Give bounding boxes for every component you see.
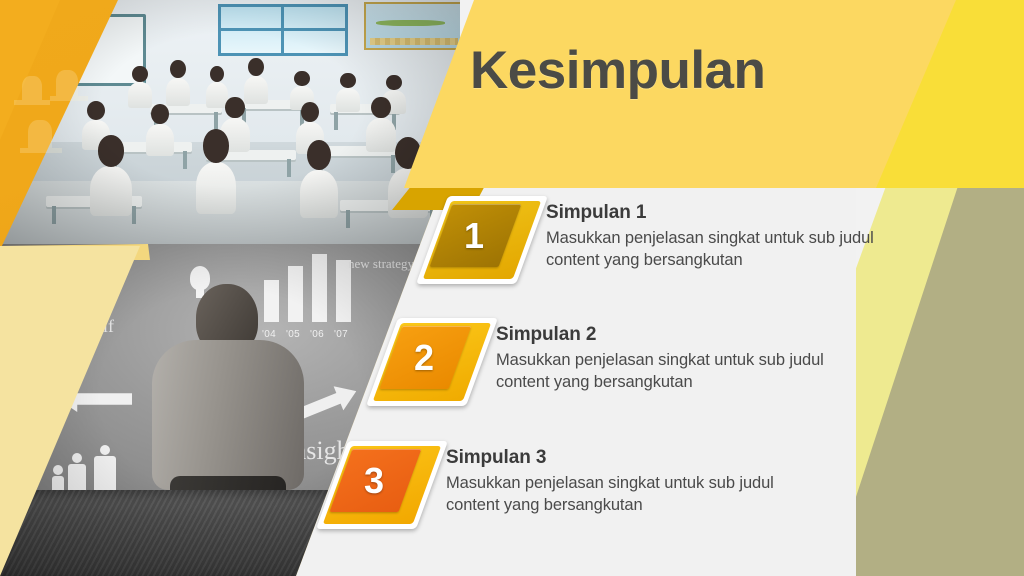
page-title: Kesimpulan [470,44,765,97]
list-item[interactable]: 1 Simpulan 1 Masukkan penjelasan singkat… [432,196,918,284]
badge-number: 1 [432,196,532,284]
item-text-block: Simpulan 3 Masukkan penjelasan singkat u… [446,441,818,516]
badge-number: 2 [382,318,482,406]
number-badge-3: 3 [332,441,432,529]
item-title: Simpulan 3 [446,447,818,470]
item-description: Masukkan penjelasan singkat untuk sub ju… [496,350,868,394]
item-title: Simpulan 2 [496,324,868,347]
item-text-block: Simpulan 2 Masukkan penjelasan singkat u… [496,318,868,393]
item-description: Masukkan penjelasan singkat untuk sub ju… [446,473,818,517]
presentation-slide: '04 '05 '06 '07 note to self new strateg… [0,0,1024,576]
list-item[interactable]: 3 Simpulan 3 Masukkan penjelasan singkat… [332,441,818,529]
number-badge-2: 2 [382,318,482,406]
list-item[interactable]: 2 Simpulan 2 Masukkan penjelasan singkat… [382,318,868,406]
badge-number: 3 [332,441,432,529]
item-description: Masukkan penjelasan singkat untuk sub ju… [546,228,918,272]
number-badge-1: 1 [432,196,532,284]
item-title: Simpulan 1 [546,202,918,225]
student-silhouette-graphic [0,0,140,250]
item-text-block: Simpulan 1 Masukkan penjelasan singkat u… [546,196,918,271]
